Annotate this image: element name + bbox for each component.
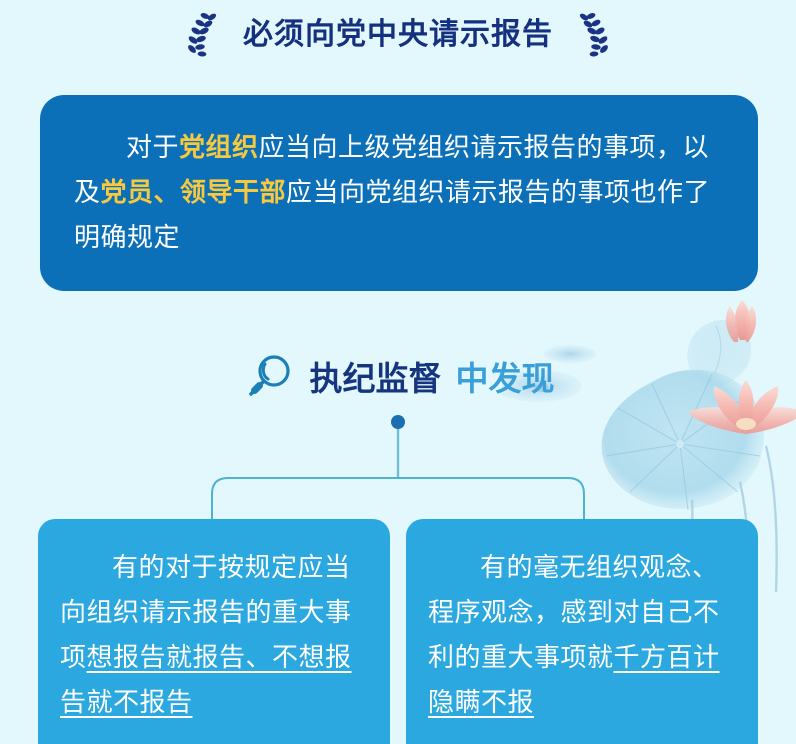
statement-text: 对于党组织应当向上级党组织请示报告的事项，以及党员、领导干部应当向党组织请示报告… [74, 125, 724, 260]
card-left-underlined: 想报告就报告、不想报告就不报告 [60, 642, 352, 717]
laurel-sprig-icon [181, 12, 225, 58]
page-title-row: 必须向党中央请示报告 [0, 6, 796, 64]
statement-box: 对于党组织应当向上级党组织请示报告的事项，以及党员、领导干部应当向党组织请示报告… [40, 95, 758, 291]
page-title: 必须向党中央请示报告 [243, 20, 553, 50]
card-right-text: 有的毫无组织观念、程序观念，感到对自己不利的重大事项就千方百计隐瞒不报 [428, 545, 736, 725]
card-row: 有的对于按规定应当向组织请示报告的重大事项想报告就报告、不想报告就不报告 有的毫… [38, 519, 758, 744]
laurel-sprig-icon [571, 12, 615, 58]
statement-highlight-dangyuan-lingdaoganbu: 党员、领导干部 [101, 177, 287, 207]
magnifier-icon [242, 351, 296, 405]
card-right[interactable]: 有的毫无组织观念、程序观念，感到对自己不利的重大事项就千方百计隐瞒不报 [406, 519, 758, 744]
card-left[interactable]: 有的对于按规定应当向组织请示报告的重大事项想报告就报告、不想报告就不报告 [38, 519, 390, 744]
connector-node [391, 415, 405, 429]
infographic-stage: 必须向党中央请示报告 对于党组织应当向上级党组织请示报告的事项，以及党员、领导干… [0, 0, 796, 744]
card-left-text: 有的对于按规定应当向组织请示报告的重大事项想报告就报告、不想报告就不报告 [60, 545, 368, 725]
branch-connector [150, 412, 650, 527]
section-heading-light: 中发现 [456, 362, 555, 395]
statement-highlight-dangzuzhi: 党组织 [179, 132, 259, 162]
section-heading: 执纪监督 中发现 [0, 345, 796, 411]
statement-seg-0: 对于 [126, 132, 179, 162]
section-heading-strong: 执纪监督 [310, 362, 442, 395]
